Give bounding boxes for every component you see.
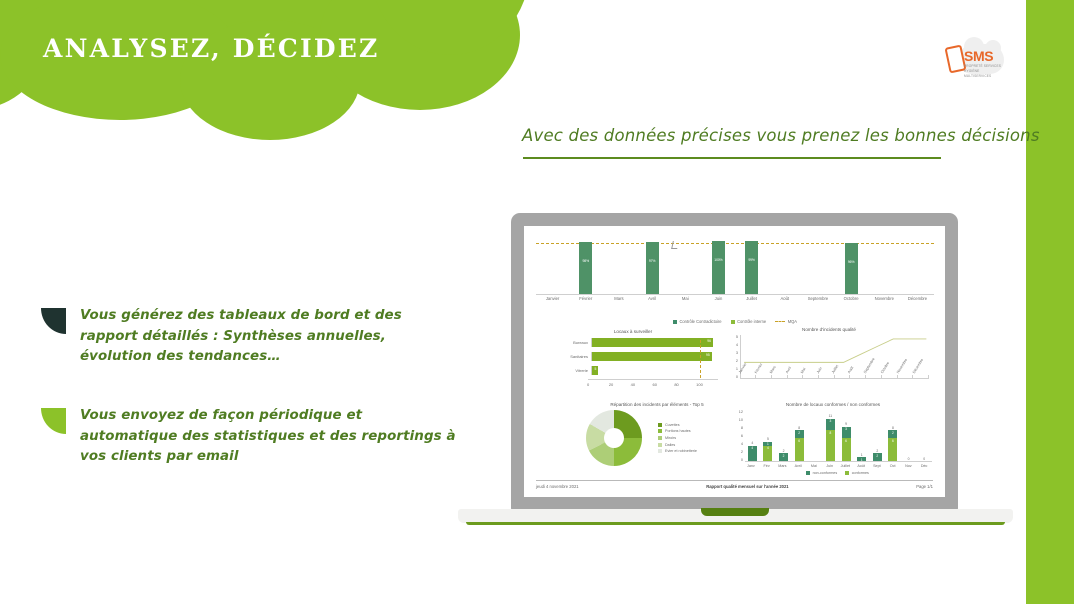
quality-report-dashboard: 98%97%100%99%96% JanvierFévrierMarsAvril… bbox=[524, 226, 945, 497]
segment-value-label: 2 bbox=[873, 454, 882, 458]
bar: 97% bbox=[646, 242, 659, 294]
bar-total-label: 0 bbox=[923, 457, 925, 461]
x-axis-tick-label: Octobre bbox=[835, 296, 868, 301]
y-axis-tick-label: 8 bbox=[741, 426, 743, 430]
stacked-bar: 26 bbox=[795, 430, 804, 461]
bar-slot bbox=[868, 238, 901, 294]
segment-value-label: 3 bbox=[826, 419, 835, 423]
x-axis-tick-label: 0 bbox=[587, 382, 609, 387]
legend-swatch-icon bbox=[658, 429, 662, 433]
bar-segment-non-conformes: 4 bbox=[748, 446, 757, 461]
legend-swatch-icon bbox=[658, 436, 662, 440]
x-axis-tick-label: Oct bbox=[885, 464, 901, 468]
bar-value-label: 100% bbox=[712, 258, 725, 262]
x-axis-tick-label: 100 bbox=[696, 382, 718, 387]
chart-monthly-control-rate: 98%97%100%99%96% JanvierFévrierMarsAvril… bbox=[536, 238, 934, 306]
x-axis-labels: JanvFévMarsAvrilMaiJuinJuilletAoûtSeptOc… bbox=[743, 462, 932, 468]
bar-segment-non-conformes: 1 bbox=[857, 457, 866, 461]
legend-swatch-icon bbox=[658, 449, 662, 453]
page-title: ANALYSEZ, DÉCIDEZ bbox=[43, 34, 380, 63]
legend-item: Portions hautes bbox=[658, 429, 697, 433]
legend-item-contradictoire: Contrôle Contradictoire bbox=[673, 319, 722, 324]
x-axis-tick-label: Février bbox=[569, 296, 602, 301]
segment-value-label: 4 bbox=[763, 446, 772, 450]
bar: 99% bbox=[745, 241, 758, 294]
stacked-bar: 2 bbox=[873, 453, 882, 461]
bar-track: 95 bbox=[591, 352, 718, 361]
legend-swatch-icon bbox=[731, 320, 735, 324]
laptop-trackpad-notch bbox=[701, 508, 769, 516]
bar-slot bbox=[536, 238, 569, 294]
x-axis-tick-label: Nov bbox=[901, 464, 917, 468]
table-row: Bureaux96 bbox=[548, 337, 718, 348]
legend-dashed-line-icon bbox=[775, 321, 785, 322]
logo-wordmark: SMS bbox=[964, 49, 993, 63]
section-heading: Avec des données précises vous prenez le… bbox=[522, 126, 952, 145]
legend-item-non-conformes: non-conformes bbox=[806, 471, 837, 475]
stacked-bar: 38 bbox=[826, 419, 835, 461]
bar-value-label: 95 bbox=[706, 353, 710, 357]
legend-swatch-icon bbox=[673, 320, 677, 324]
x-axis-tick-label: Juillet bbox=[735, 296, 768, 301]
bar-slot: 936 bbox=[838, 410, 854, 461]
x-axis-tick-label: Novembre bbox=[868, 296, 901, 301]
legend-label: Dalles bbox=[665, 443, 675, 447]
y-axis-tick-label: 6 bbox=[741, 434, 743, 438]
bar-total-label: 2 bbox=[876, 449, 878, 453]
bar-segment-non-conformes: 2 bbox=[779, 453, 788, 461]
bar-slot bbox=[768, 238, 801, 294]
bar-track: 96 bbox=[591, 338, 718, 347]
bar-slot: 100% bbox=[702, 238, 735, 294]
bar-value-label: 96% bbox=[845, 260, 858, 264]
x-axis-tick-label: Juin bbox=[822, 464, 838, 468]
chart-title: Nombre de locaux conformes / non conform… bbox=[734, 402, 932, 407]
bar-slot bbox=[901, 238, 934, 294]
y-axis-tick-label: 12 bbox=[739, 410, 743, 414]
stacked-bar-series: 44514228261138936112282600 bbox=[745, 410, 933, 462]
bar: 98% bbox=[579, 242, 592, 294]
y-axis-tick-label: 10 bbox=[739, 418, 743, 422]
bar-slot: 22 bbox=[870, 410, 886, 461]
bar-slot: 0 bbox=[916, 410, 932, 461]
segment-value-label: 6 bbox=[888, 439, 897, 443]
legend-label: Contrôle interne bbox=[737, 319, 766, 324]
x-axis-tick-label: Mars bbox=[602, 296, 635, 301]
donut-wrapper: CuvettesPortions hautesMiroirsDallesEvie… bbox=[572, 410, 742, 466]
stacked-bar: 36 bbox=[842, 427, 851, 462]
chart-title: Locaux à surveiller bbox=[548, 329, 718, 334]
bar-segment-non-conformes: 2 bbox=[888, 430, 897, 438]
bar-slot bbox=[807, 410, 823, 461]
legend-item: Dalles bbox=[658, 443, 697, 447]
bar-slot: 99% bbox=[735, 238, 768, 294]
x-axis-tick-label: Avril bbox=[636, 296, 669, 301]
x-axis-tick-label: 60 bbox=[652, 382, 674, 387]
bar-total-label: 8 bbox=[798, 426, 800, 430]
x-axis-tick-label: Juin bbox=[702, 296, 735, 301]
bullet-item-1: Vous générez des tableaux de bord et des… bbox=[41, 306, 441, 368]
bar-value-label: 99% bbox=[745, 258, 758, 262]
x-axis-tick-label: Juillet bbox=[838, 464, 854, 468]
bar-total-label: 1 bbox=[861, 453, 863, 457]
legend-item: Cuvettes bbox=[658, 423, 697, 427]
legend-item-mqa: MQA bbox=[775, 319, 797, 324]
bar: 100% bbox=[712, 241, 725, 294]
stacked-bar: 14 bbox=[763, 442, 772, 461]
bar-segment-non-conformes: 2 bbox=[795, 430, 804, 438]
bar-segment-conformes: 8 bbox=[826, 430, 835, 461]
horizontal-bar-series: Bureaux96Sanitaires95Vitrerie5 bbox=[548, 337, 718, 376]
x-axis-tick-label: 40 bbox=[631, 382, 653, 387]
x-axis-tick-label: Janv bbox=[743, 464, 759, 468]
laptop-base-edge bbox=[466, 522, 1005, 525]
segment-value-label: 2 bbox=[795, 431, 804, 435]
logo-tagline: PROPRETÉ SERVICES HYGIÈNE MULTISERVICES bbox=[964, 64, 1004, 78]
bar-segment-conformes: 6 bbox=[842, 438, 851, 461]
bar-slot: 1138 bbox=[823, 410, 839, 461]
legend-label: MQA bbox=[788, 319, 797, 324]
x-axis-tick-label: Fév bbox=[759, 464, 775, 468]
chart-legend: Contrôle Contradictoire Contrôle interne… bbox=[536, 319, 934, 324]
bar-slot: 11 bbox=[854, 410, 870, 461]
segment-value-label: 6 bbox=[842, 439, 851, 443]
legend-swatch-icon bbox=[845, 471, 849, 475]
legend-item-conformes: conformes bbox=[845, 471, 869, 475]
category-label: Bureaux bbox=[548, 340, 591, 345]
bar-slot: 0 bbox=[901, 410, 917, 461]
bar-total-label: 4 bbox=[751, 441, 753, 445]
quarter-circle-dark-icon bbox=[41, 308, 66, 334]
stacked-bar: 1 bbox=[857, 457, 866, 461]
footer-page: Page 1/1 bbox=[916, 484, 933, 489]
x-axis-tick-label: Janvier bbox=[536, 296, 569, 301]
bullet-item-2-label: Vous envoyez de façon périodique et auto… bbox=[80, 406, 456, 468]
chart-legend: non-conformes conformes bbox=[743, 471, 932, 475]
segment-value-label: 2 bbox=[779, 454, 788, 458]
bar-segment-conformes: 4 bbox=[763, 446, 772, 461]
bar-value-label: 5 bbox=[594, 367, 596, 371]
bar-segment-conformes: 6 bbox=[795, 438, 804, 461]
legend-item: Evier et robinetterie bbox=[658, 449, 697, 453]
x-axis-tick-label: Mai bbox=[806, 464, 822, 468]
legend-label: Cuvettes bbox=[665, 423, 680, 427]
bar-segment-conformes: 6 bbox=[888, 438, 897, 461]
laptop-screen: 98%97%100%99%96% JanvierFévrierMarsAvril… bbox=[524, 226, 945, 497]
legend-label: Miroirs bbox=[665, 436, 676, 440]
bar-value-label: 97% bbox=[646, 259, 659, 263]
bar-track: 5 bbox=[591, 366, 718, 375]
footer-title: Rapport qualité mensuel sur l'année 2021 bbox=[706, 484, 788, 489]
x-axis-tick-label: Déc bbox=[916, 464, 932, 468]
target-line bbox=[700, 340, 701, 378]
header-cloud-shape bbox=[0, 0, 520, 140]
bar-slot: 96% bbox=[835, 238, 868, 294]
legend-label: Portions hautes bbox=[665, 429, 691, 433]
legend-label: Evier et robinetterie bbox=[665, 449, 697, 453]
category-label: Sanitaires bbox=[548, 354, 591, 359]
bullet-item-1-label: Vous générez des tableaux de bord et des… bbox=[80, 306, 441, 368]
x-axis-tick-label: Août bbox=[768, 296, 801, 301]
chart-locaux-conformes: Nombre de locaux conformes / non conform… bbox=[734, 402, 932, 484]
quarter-circle-green-icon bbox=[41, 408, 66, 434]
bar-value-label: 96 bbox=[707, 339, 711, 343]
legend-label: non-conformes bbox=[813, 471, 838, 475]
segment-value-label: 1 bbox=[857, 458, 866, 462]
legend-swatch-icon bbox=[658, 443, 662, 447]
x-axis-tick-label: Décembre bbox=[901, 296, 934, 301]
x-axis-tick-label: 80 bbox=[674, 382, 696, 387]
footer-date: jeudi 4 novembre 2021 bbox=[536, 484, 579, 489]
bar-segment-non-conformes: 3 bbox=[842, 427, 851, 439]
chart-repartition-incidents: Répartition des incidents par éléments -… bbox=[572, 402, 742, 482]
bar-value-label: 98% bbox=[579, 259, 592, 263]
bar-total-label: 8 bbox=[892, 426, 894, 430]
bar-slot: 514 bbox=[760, 410, 776, 461]
bar-slot bbox=[801, 238, 834, 294]
segment-value-label: 8 bbox=[826, 431, 835, 435]
bar-slot: 44 bbox=[745, 410, 761, 461]
bar-slot bbox=[602, 238, 635, 294]
bar-series: 98%97%100%99%96% bbox=[536, 238, 934, 294]
y-axis-tick-label: 2 bbox=[736, 359, 738, 363]
bar-slot: 826 bbox=[791, 410, 807, 461]
bar: 5 bbox=[592, 366, 598, 375]
x-axis-tick-label: Septembre bbox=[801, 296, 834, 301]
legend-item-interne: Contrôle interne bbox=[731, 319, 767, 324]
y-axis-labels: 121086420 bbox=[734, 410, 745, 462]
section-heading-underline bbox=[523, 157, 941, 159]
segment-value-label: 6 bbox=[795, 439, 804, 443]
chart-legend: CuvettesPortions hautesMiroirsDallesEvie… bbox=[658, 423, 697, 453]
legend-swatch-icon bbox=[658, 423, 662, 427]
y-axis-tick-label: 0 bbox=[741, 458, 743, 462]
y-axis-tick-label: 2 bbox=[741, 450, 743, 454]
x-axis-labels: 020406080100 bbox=[588, 379, 718, 387]
bar-segment-non-conformes: 2 bbox=[873, 453, 882, 461]
bar-total-label: 5 bbox=[767, 437, 769, 441]
legend-swatch-icon bbox=[806, 471, 810, 475]
bar-slot: 826 bbox=[885, 410, 901, 461]
y-axis-tick-label: 4 bbox=[736, 343, 738, 347]
chart-locaux-a-surveiller: Locaux à surveiller Bureaux96Sanitaires9… bbox=[548, 329, 718, 389]
stacked-bar: 4 bbox=[748, 446, 757, 461]
y-axis-tick-label: 5 bbox=[736, 335, 738, 339]
bar-total-label: 0 bbox=[908, 457, 910, 461]
report-footer: jeudi 4 novembre 2021 Rapport qualité me… bbox=[536, 480, 933, 489]
bar: 96 bbox=[592, 338, 713, 347]
x-axis-tick-label: Avril bbox=[790, 464, 806, 468]
x-axis-labels: JanvierFévrierMarsAvrilMaiJuinJuilletAoû… bbox=[536, 296, 934, 301]
chart-incidents-qualite: Nombre d'incidents qualité 543210 Janvie… bbox=[729, 327, 929, 397]
y-axis-tick-label: 3 bbox=[736, 351, 738, 355]
bar: 96% bbox=[845, 243, 858, 294]
x-axis-labels: JanvierFévrierMarsAvrilMaiJuinJuilletAoû… bbox=[738, 372, 929, 376]
bar-slot: 98% bbox=[569, 238, 602, 294]
segment-value-label: 2 bbox=[888, 431, 897, 435]
table-row: Sanitaires95 bbox=[548, 351, 718, 362]
x-axis-tick-label: Août bbox=[853, 464, 869, 468]
x-axis-tick-label: 20 bbox=[609, 382, 631, 387]
legend-label: conformes bbox=[852, 471, 869, 475]
chart-plot-area: 121086420 44514228261138936112282600 bbox=[734, 410, 932, 462]
category-label: Vitrerie bbox=[548, 368, 591, 373]
bar-segment-non-conformes: 3 bbox=[826, 419, 835, 431]
bar: 95 bbox=[592, 352, 712, 361]
bar-total-label: 9 bbox=[845, 422, 847, 426]
chart-title: Nombre d'incidents qualité bbox=[729, 327, 929, 332]
y-axis-tick-label: 4 bbox=[741, 442, 743, 446]
bullet-item-2: Vous envoyez de façon périodique et auto… bbox=[41, 406, 456, 468]
stacked-bar: 26 bbox=[888, 430, 897, 461]
donut-chart bbox=[586, 410, 642, 466]
slide-root: ANALYSEZ, DÉCIDEZ SMS PROPRETÉ SERVICES … bbox=[0, 0, 1074, 604]
bar-slot: 97% bbox=[636, 238, 669, 294]
legend-item: Miroirs bbox=[658, 436, 697, 440]
bar-slot: 22 bbox=[776, 410, 792, 461]
chart-plot-area: 98%97%100%99%96% bbox=[536, 238, 934, 295]
stacked-bar: 2 bbox=[779, 453, 788, 461]
segment-value-label: 4 bbox=[748, 446, 757, 450]
bar-total-label: 2 bbox=[783, 449, 785, 453]
x-axis-tick-label: Sept bbox=[869, 464, 885, 468]
bar-total-label: 11 bbox=[829, 414, 833, 418]
chart-title: Répartition des incidents par éléments -… bbox=[572, 402, 742, 407]
segment-value-label: 3 bbox=[842, 427, 851, 431]
x-axis-tick-label: Mars bbox=[775, 464, 791, 468]
sms-logo: SMS PROPRETÉ SERVICES HYGIÈNE MULTISERVI… bbox=[944, 38, 1006, 82]
x-axis-tick-label: Mai bbox=[669, 296, 702, 301]
table-row: Vitrerie5 bbox=[548, 365, 718, 376]
legend-label: Contrôle Contradictoire bbox=[679, 319, 721, 324]
right-green-band bbox=[1026, 0, 1074, 604]
